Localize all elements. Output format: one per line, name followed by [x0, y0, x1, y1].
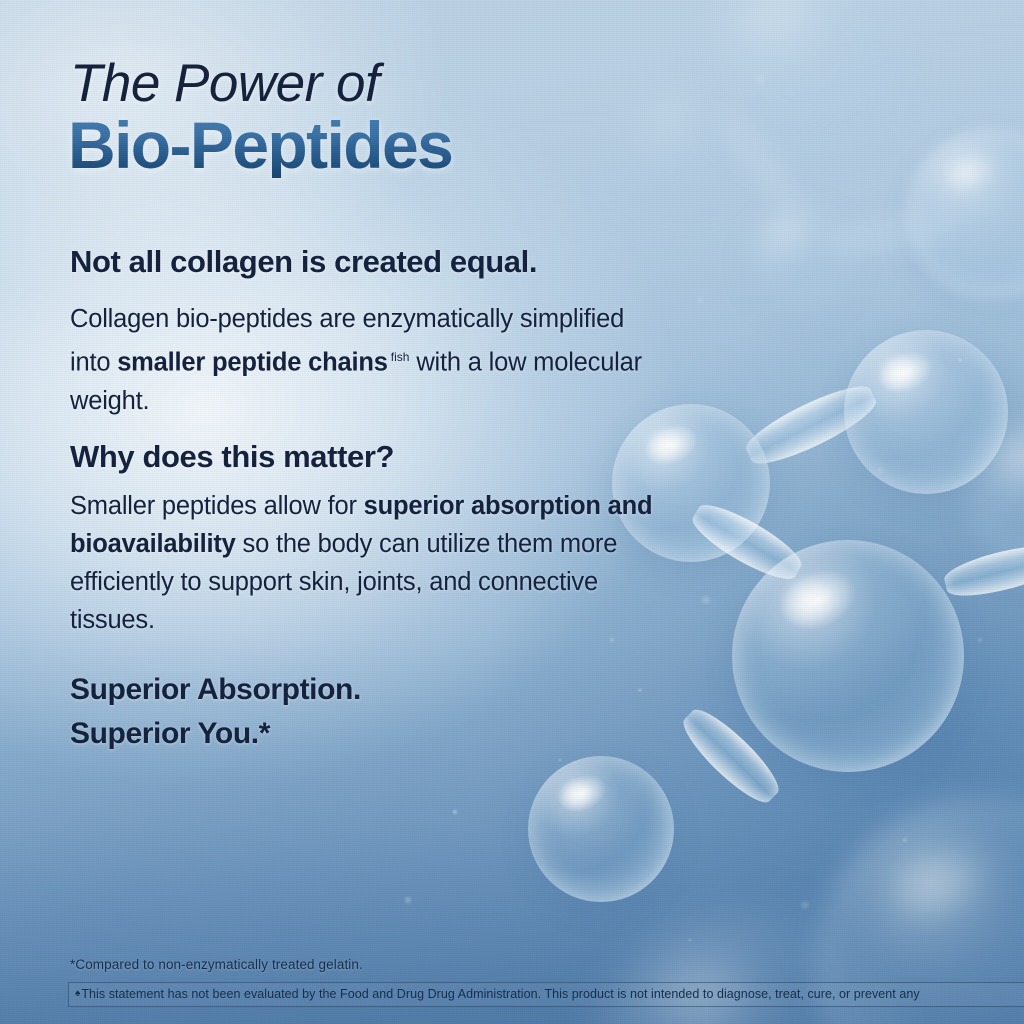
- tagline-line-2: Superior You.*: [70, 712, 361, 756]
- section-1-heading: Not all collagen is created equal.: [70, 245, 537, 279]
- section-2-body: Smaller peptides allow for superior abso…: [70, 487, 670, 639]
- marketing-infographic: The Power of Bio-Peptides Not all collag…: [0, 0, 1024, 1024]
- headline-wordmark: Bio-Peptides: [68, 112, 452, 178]
- tagline: Superior Absorption. Superior You.*: [70, 668, 361, 756]
- disclaimer-text: This statement has not been evaluated by…: [81, 987, 919, 1001]
- section-1-superscript: fish: [388, 350, 410, 364]
- headline-kicker: The Power of: [70, 57, 379, 110]
- fda-disclaimer-box: ♠This statement has not been evaluated b…: [68, 982, 1024, 1007]
- copy-block: The Power of Bio-Peptides Not all collag…: [0, 0, 1024, 1024]
- section-1-body-bold: smaller peptide chains: [117, 349, 388, 377]
- section-2-body-lead: Smaller peptides allow for: [70, 492, 364, 520]
- tagline-line-1: Superior Absorption.: [70, 668, 361, 712]
- footnote-asterisk: *Compared to non-enzymatically treated g…: [70, 957, 363, 972]
- section-1-body: Collagen bio-peptides are enzymatically …: [70, 300, 670, 420]
- section-2-heading: Why does this matter?: [70, 440, 394, 474]
